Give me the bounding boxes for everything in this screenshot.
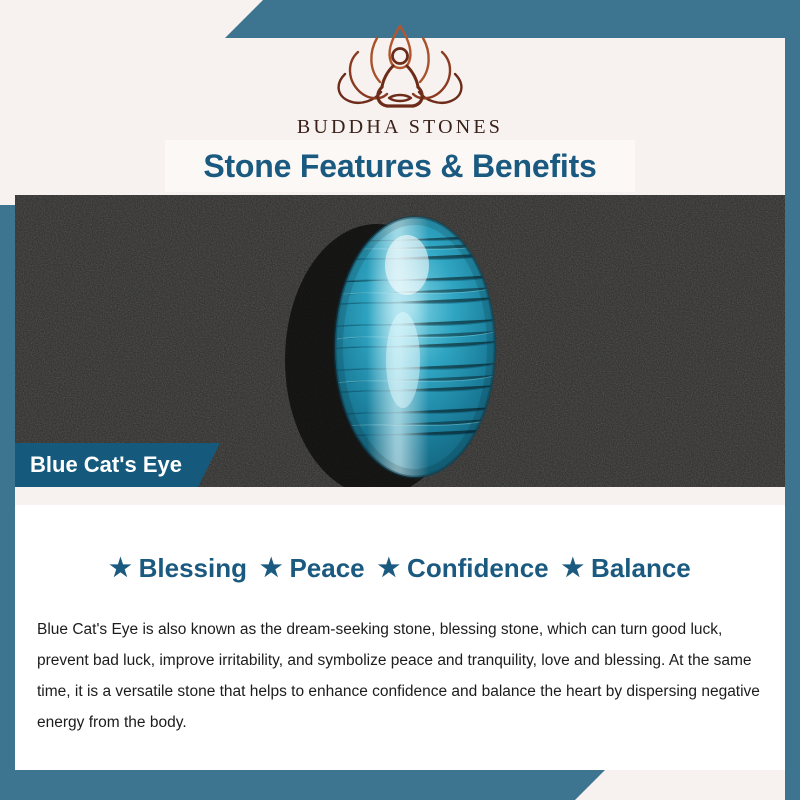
- benefit-item-confidence: ★ Confidence: [365, 553, 549, 584]
- left-accent-bar: [0, 205, 15, 800]
- photo-bottom-strip: [15, 487, 785, 507]
- brand-logo: BUDDHA STONES: [0, 22, 800, 139]
- star-icon: ★: [378, 556, 400, 581]
- stone-name-label: Blue Cat's Eye: [15, 452, 182, 478]
- lotus-meditation-icon: [325, 22, 475, 114]
- stone-name-ribbon: Blue Cat's Eye: [15, 443, 220, 487]
- benefit-label: Peace: [289, 553, 364, 584]
- benefit-label: Confidence: [407, 553, 549, 584]
- stone-feature-poster: BUDDHA STONES Stone Features & Benefits: [0, 0, 800, 800]
- benefit-item-peace: ★ Peace: [247, 553, 365, 584]
- bottom-accent-bar: [0, 770, 605, 800]
- benefit-label: Balance: [591, 553, 691, 584]
- star-icon: ★: [109, 556, 131, 581]
- star-icon: ★: [562, 556, 584, 581]
- stone-description: Blue Cat's Eye is also known as the drea…: [37, 614, 765, 738]
- star-icon: ★: [260, 556, 282, 581]
- right-accent-bar: [785, 38, 800, 800]
- page-title: Stone Features & Benefits: [203, 148, 596, 185]
- brand-name: BUDDHA STONES: [297, 116, 503, 139]
- benefit-item-blessing: ★ Blessing: [109, 553, 247, 584]
- benefits-row: ★ Blessing ★ Peace ★ Confidence ★ Balanc…: [15, 548, 785, 588]
- page-title-banner: Stone Features & Benefits: [165, 140, 635, 192]
- benefit-item-balance: ★ Balance: [549, 553, 691, 584]
- benefit-label: Blessing: [139, 553, 247, 584]
